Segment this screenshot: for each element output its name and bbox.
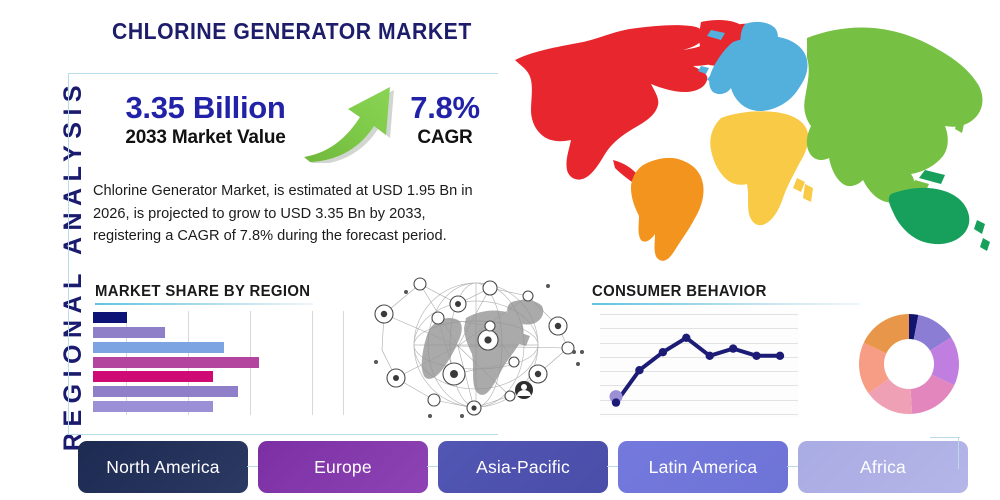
line-chart-point	[752, 352, 760, 360]
cagr-stat: 7.8% CAGR	[390, 90, 500, 149]
bar-fill	[93, 327, 165, 338]
line-chart-point	[659, 348, 667, 356]
bar-chart-bar	[93, 386, 238, 397]
cagr-number: 7.8%	[390, 90, 500, 126]
bar-chart-bar	[93, 312, 127, 323]
market-value-label: 2033 Market Value	[98, 127, 313, 149]
bar-fill	[93, 371, 213, 382]
map-region-africa	[710, 111, 808, 225]
map-region-australia	[889, 188, 969, 244]
map-region-asia	[804, 27, 982, 202]
bar-chart-bar	[93, 357, 259, 368]
bar-chart-bar	[93, 401, 213, 412]
segment-donut-chart	[853, 308, 965, 420]
line-chart-point	[776, 352, 784, 360]
bar-fill	[93, 312, 127, 323]
bar-chart-bar	[93, 327, 165, 338]
region-button-north-america[interactable]: North America	[78, 441, 248, 493]
line-chart-point	[682, 334, 690, 342]
bar-chart-gridline	[343, 311, 344, 415]
global-network-globe-icon	[362, 266, 590, 424]
infographic-root: REGIONAL ANALYSIS CHLORINE GENERATOR MAR…	[0, 0, 1000, 500]
bar-fill	[93, 401, 213, 412]
bar-fill	[93, 386, 238, 397]
map-region-madagascar	[803, 184, 813, 202]
line-chart-point	[706, 352, 714, 360]
region-button-bar: North AmericaEuropeAsia-PacificLatin Ame…	[78, 441, 968, 493]
market-share-section-title: MARKET SHARE BY REGION	[95, 283, 310, 301]
line-chart-point	[612, 398, 620, 406]
bar-fill	[93, 342, 224, 353]
line-chart-point	[729, 344, 737, 352]
world-map-icon	[505, 8, 997, 270]
consumer-behavior-section-title: CONSUMER BEHAVIOR	[592, 283, 767, 301]
region-connector-tail-horizontal	[930, 437, 960, 438]
line-chart-point	[635, 366, 643, 374]
map-region-new-zealand	[974, 220, 990, 251]
consumer-behavior-underline	[592, 303, 860, 305]
cagr-label: CAGR	[390, 127, 500, 149]
key-stats: 3.35 Billion 2033 Market Value 7.8% CAGR	[80, 88, 500, 170]
market-value-number: 3.35 Billion	[98, 90, 313, 126]
bar-chart-bar	[93, 342, 224, 353]
region-button-europe[interactable]: Europe	[258, 441, 428, 493]
page-title: CHLORINE GENERATOR MARKET	[112, 18, 472, 45]
region-button-latin-america[interactable]: Latin America	[618, 441, 788, 493]
bar-fill	[93, 357, 259, 368]
market-share-bar-chart	[93, 311, 381, 415]
bar-chart-bar	[93, 371, 213, 382]
map-region-new-guinea	[919, 170, 945, 184]
line-chart-series	[600, 310, 798, 418]
region-button-africa[interactable]: Africa	[798, 441, 968, 493]
market-value-stat: 3.35 Billion 2033 Market Value	[98, 90, 313, 149]
bar-chart-gridline	[312, 311, 313, 415]
region-button-asia-pacific[interactable]: Asia-Pacific	[438, 441, 608, 493]
market-share-underline	[95, 303, 313, 305]
consumer-behavior-line-chart	[600, 310, 798, 418]
market-description: Chlorine Generator Market, is estimated …	[93, 180, 493, 248]
region-connector-tail	[958, 437, 959, 469]
map-region-south-america	[631, 158, 704, 261]
